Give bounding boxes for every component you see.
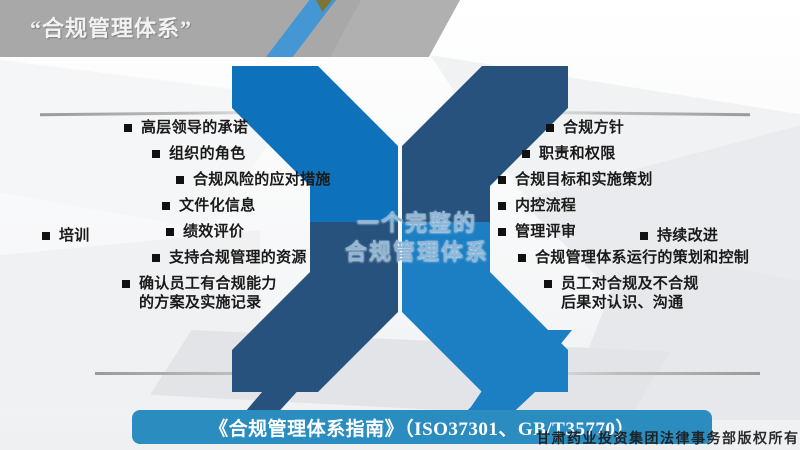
bullet-label-line1: 确认员工有合规能力 (139, 275, 277, 292)
list-item: 高层领导的承诺 (124, 118, 374, 137)
list-item: 职责和权限 (522, 144, 798, 163)
bullet-label: 合规风险的应对措施 (193, 170, 331, 189)
bullet-label-multiline: 确认员工有合规能力 的方案及实施记录 (139, 274, 277, 312)
bullet-label-line1: 员工对合规及不合规 (561, 275, 699, 292)
copyright-watermark: 甘肃药业投资集团法律事务部版权所有 (536, 428, 800, 448)
bullet-label-line2: 后果对认识、沟通 (561, 293, 699, 312)
list-item: 组织的角色 (152, 144, 374, 163)
list-item-training: 培训 (42, 226, 90, 245)
square-bullet-icon (544, 280, 552, 288)
right-bullet-column: 合规方针 职责和权限 合规目标和实施策划 内控流程 管理评审 合规管理体系运行的… (498, 118, 798, 319)
list-item: 员工对合规及不合规 后果对认识、沟通 (544, 274, 798, 312)
bullet-label: 合规方针 (563, 118, 624, 137)
bullet-label: 管理评审 (515, 222, 576, 241)
bullet-label: 持续改进 (657, 226, 718, 245)
square-bullet-icon (546, 124, 554, 132)
center-label-line2: 合规管理体系 (345, 239, 489, 264)
square-bullet-icon (42, 232, 50, 240)
bullet-label: 文件化信息 (179, 196, 256, 215)
bullet-label: 职责和权限 (539, 144, 616, 163)
list-item: 合规目标和实施策划 (498, 170, 798, 189)
square-bullet-icon (498, 176, 506, 184)
bullet-label: 支持合规管理的资源 (169, 248, 307, 267)
list-item-continuous-improvement: 持续改进 (640, 226, 718, 245)
square-bullet-icon (640, 232, 648, 240)
bullet-label: 培训 (59, 226, 90, 245)
square-bullet-icon (162, 202, 170, 210)
bullet-label: 组织的角色 (169, 144, 246, 163)
bullet-label: 绩效评价 (183, 222, 244, 241)
bullet-label-multiline: 员工对合规及不合规 后果对认识、沟通 (561, 274, 699, 312)
bullet-label-line2: 的方案及实施记录 (139, 293, 277, 312)
center-label-line1: 一个完整的 (357, 210, 477, 235)
bullet-label: 高层领导的承诺 (141, 118, 248, 137)
center-label: 一个完整的 合规管理体系 (332, 208, 502, 266)
bullet-label: 内控流程 (515, 196, 576, 215)
list-item: 合规风险的应对措施 (176, 170, 374, 189)
square-bullet-icon (152, 254, 160, 262)
list-item: 合规方针 (546, 118, 798, 137)
page-title: “合规管理体系” (30, 11, 192, 43)
bullet-label: 合规管理体系运行的策划和控制 (535, 248, 749, 267)
square-bullet-icon (122, 280, 130, 288)
square-bullet-icon (522, 150, 530, 158)
list-item: 确认员工有合规能力 的方案及实施记录 (122, 274, 374, 312)
square-bullet-icon (176, 176, 184, 184)
slide-canvas: “合规管理体系” 一个完整的 合规管理体 (0, 0, 800, 450)
list-item: 内控流程 (498, 196, 798, 215)
list-item: 合规管理体系运行的策划和控制 (518, 248, 798, 267)
square-bullet-icon (124, 124, 132, 132)
bullet-label: 合规目标和实施策划 (515, 170, 653, 189)
square-bullet-icon (518, 254, 526, 262)
square-bullet-icon (166, 228, 174, 236)
square-bullet-icon (152, 150, 160, 158)
left-bullet-column: 高层领导的承诺 组织的角色 合规风险的应对措施 文件化信息 绩效评价 支持合规管… (34, 118, 374, 319)
